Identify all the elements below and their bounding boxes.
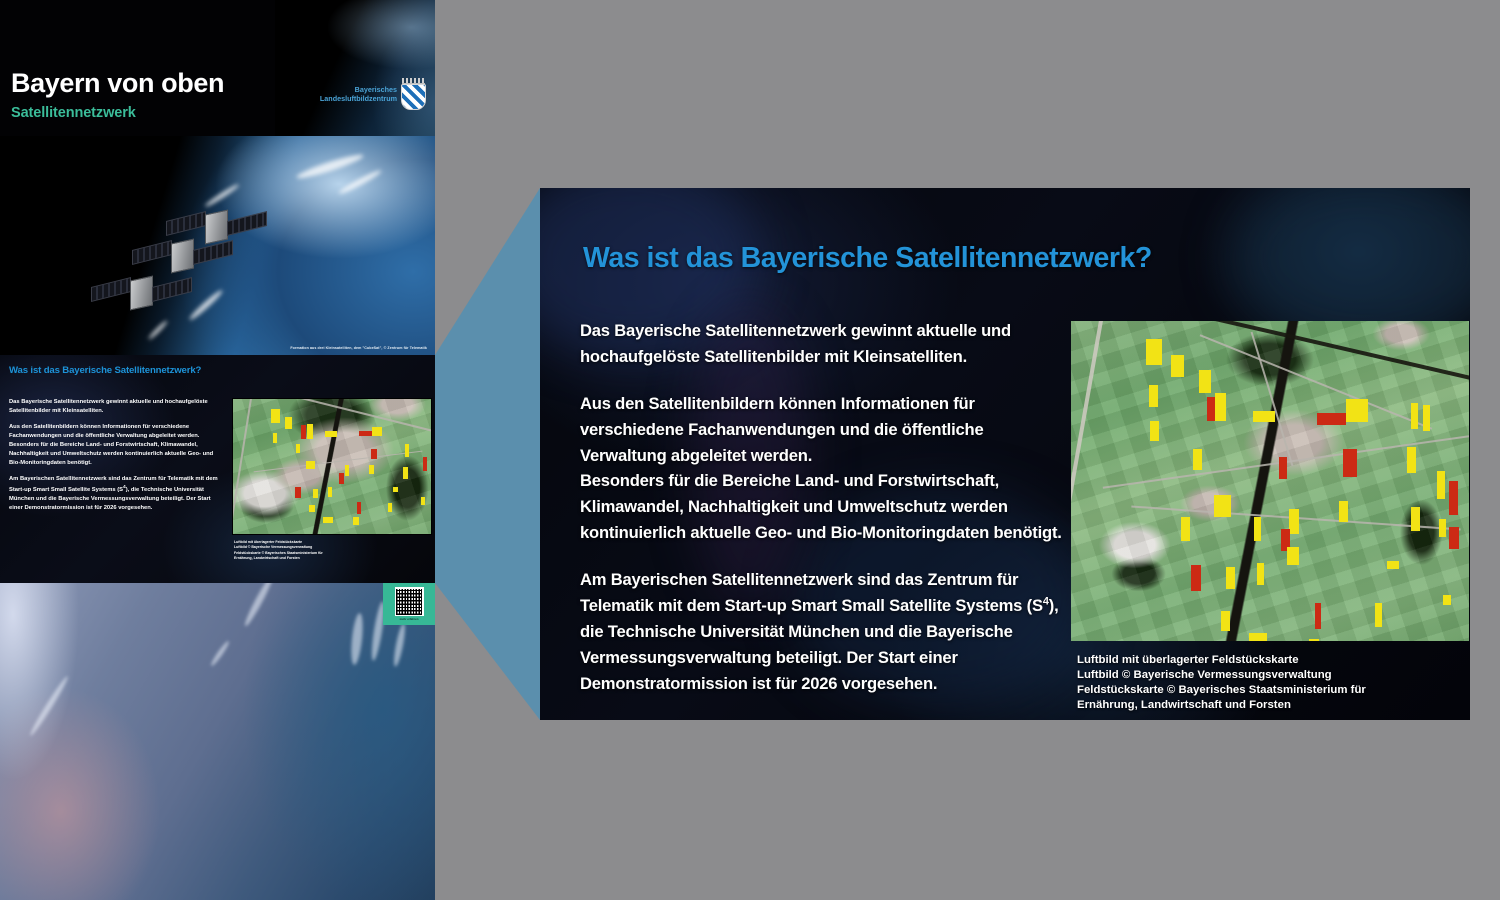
cloud-streak	[188, 288, 225, 322]
cloud-streak	[295, 151, 364, 181]
poster-header: Bayern von oben Satellitennetzwerk Bayer…	[0, 0, 435, 136]
zoom-connector	[435, 188, 540, 720]
poster-header-backdrop	[275, 0, 435, 136]
cloud-streak	[204, 183, 240, 209]
aerial-photo-caption: Luftbild mit überlagerter Feldstückskart…	[1077, 653, 1467, 714]
poster-paragraph-3: Am Bayerischen Satellitennetzwerk sind d…	[9, 475, 219, 513]
qr-code-label: mehr erfahren	[400, 617, 419, 621]
source-poster: Bayern von oben Satellitennetzwerk Bayer…	[0, 0, 435, 900]
poster-slide-heading: Was ist das Bayerische Satellitennetzwer…	[9, 365, 201, 376]
shield-body-icon	[401, 84, 426, 110]
panel-paragraph-1: Das Bayerische Satellitennetzwerk gewinn…	[580, 318, 1070, 370]
cubesat-formation-photo: Formation aus drei Kleinsatelliten, dem …	[0, 136, 435, 355]
poster-title: Bayern von oben	[11, 70, 224, 97]
earth-from-space-photo: mehr erfahren	[0, 583, 435, 900]
poster-paragraph-1: Das Bayerische Satellitennetzwerk gewinn…	[9, 398, 219, 416]
caption-line: Luftbild mit überlagerter Feldstückskart…	[1077, 653, 1467, 668]
poster-aerial-photo	[232, 398, 432, 535]
qr-code-icon[interactable]	[395, 587, 424, 616]
panel-heading: Was ist das Bayerische Satellitennetzwer…	[583, 244, 1152, 273]
panel-body-text: Das Bayerische Satellitennetzwerk gewinn…	[580, 318, 1070, 696]
poster-logo: Bayerisches Landesluftbildzentrum	[320, 78, 426, 110]
poster-aerial-caption: Luftbild mit überlagerter Feldstückskart…	[234, 540, 432, 561]
poster-logo-line1: Bayerisches	[320, 85, 397, 94]
panel-paragraph-2a: Aus den Satellitenbildern können Informa…	[580, 394, 983, 465]
poster-subtitle: Satellitennetzwerk	[11, 106, 136, 121]
aerial-basemap	[233, 399, 431, 534]
poster-paragraph-2: Aus den Satellitenbildern können Informa…	[9, 423, 219, 468]
photo-credit: Formation aus drei Kleinsatelliten, dem …	[290, 346, 427, 350]
panel-paragraph-3: Am Bayerischen Satellitennetzwerk sind d…	[580, 567, 1070, 696]
caption-line: Ernährung, Landwirtschaft und Forsten	[1077, 698, 1467, 713]
poster-slide-text: Das Bayerische Satellitennetzwerk gewinn…	[9, 398, 219, 513]
cloud-streak	[337, 168, 382, 196]
caption-line: Feldstückskarte © Bayerisches Staatsmini…	[1077, 683, 1467, 698]
panel-paragraph-2: Aus den Satellitenbildern können Informa…	[580, 391, 1070, 546]
caption-line: Ernährung, Landwirtschaft und Forsten	[234, 556, 432, 561]
qr-code-block[interactable]: mehr erfahren	[383, 583, 435, 625]
aerial-basemap	[1071, 321, 1469, 641]
panel-paragraph-3-pre: Am Bayerischen Satellitennetzwerk sind d…	[580, 570, 1043, 615]
panel-paragraph-2b: Besonders für die Bereiche Land- und For…	[580, 471, 1062, 542]
poster-logo-text: Bayerisches Landesluftbildzentrum	[320, 85, 397, 103]
caption-line: Luftbild © Bayerische Vermessungsverwalt…	[1077, 668, 1467, 683]
cloud-streak	[147, 319, 168, 340]
poster-logo-line2: Landesluftbildzentrum	[320, 94, 397, 103]
bavarian-coat-of-arms-icon	[401, 78, 426, 110]
aerial-photo-with-field-parcel-overlay	[1071, 321, 1469, 641]
poster-paragraph-2b: Besonders für die Bereiche Land- und For…	[9, 442, 213, 466]
poster-paragraph-2a: Aus den Satellitenbildern können Informa…	[9, 424, 199, 439]
expanded-slide-panel: Was ist das Bayerische Satellitennetzwer…	[540, 188, 1470, 720]
